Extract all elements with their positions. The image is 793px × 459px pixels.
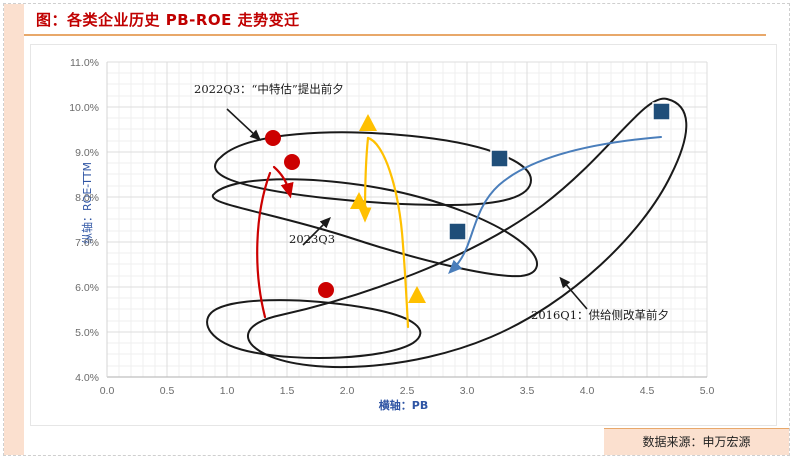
data-point-red-1[interactable] [265,130,281,146]
series-blue-trajectory [453,137,661,269]
data-point-blue-2[interactable] [449,223,466,240]
plot-canvas [31,45,776,425]
data-point-red-3[interactable] [318,282,334,298]
series-orange-arrow [365,138,368,215]
group-ellipse-top [215,132,531,205]
data-point-orange-1[interactable] [359,114,377,131]
series-red-trajectory [257,173,270,317]
data-point-blue-3[interactable] [653,103,670,120]
left-accent-band [4,4,24,455]
annotation-2022q3: 2022Q3：“中特估”提出前夕 [194,81,344,97]
page-title: 图：各类企业历史 PB-ROE 走势变迁 [36,9,300,30]
annotation-arrow-2022q3 [227,109,257,137]
annotation-2023q3: 2023Q3 [289,232,335,246]
data-point-blue-1[interactable] [491,150,508,167]
source-band: 数据来源：申万宏源 [604,428,789,455]
series-orange-trajectory [368,138,408,327]
data-point-orange-3[interactable] [408,286,426,303]
annotation-2016q1: 2016Q1：供给侧改革前夕 [531,307,669,323]
chart-area: 纵轴：ROE-TTM 横轴：PB 11.0% 10.0% 9.0% 8.0% 7… [30,44,777,426]
source-label: 数据来源：申万宏源 [604,429,789,455]
data-point-red-2[interactable] [284,154,300,170]
group-ellipse-middle [213,179,537,276]
figure-page: 图：各类企业历史 PB-ROE 走势变迁 纵轴：ROE-TTM 横轴：PB 11… [0,0,793,459]
